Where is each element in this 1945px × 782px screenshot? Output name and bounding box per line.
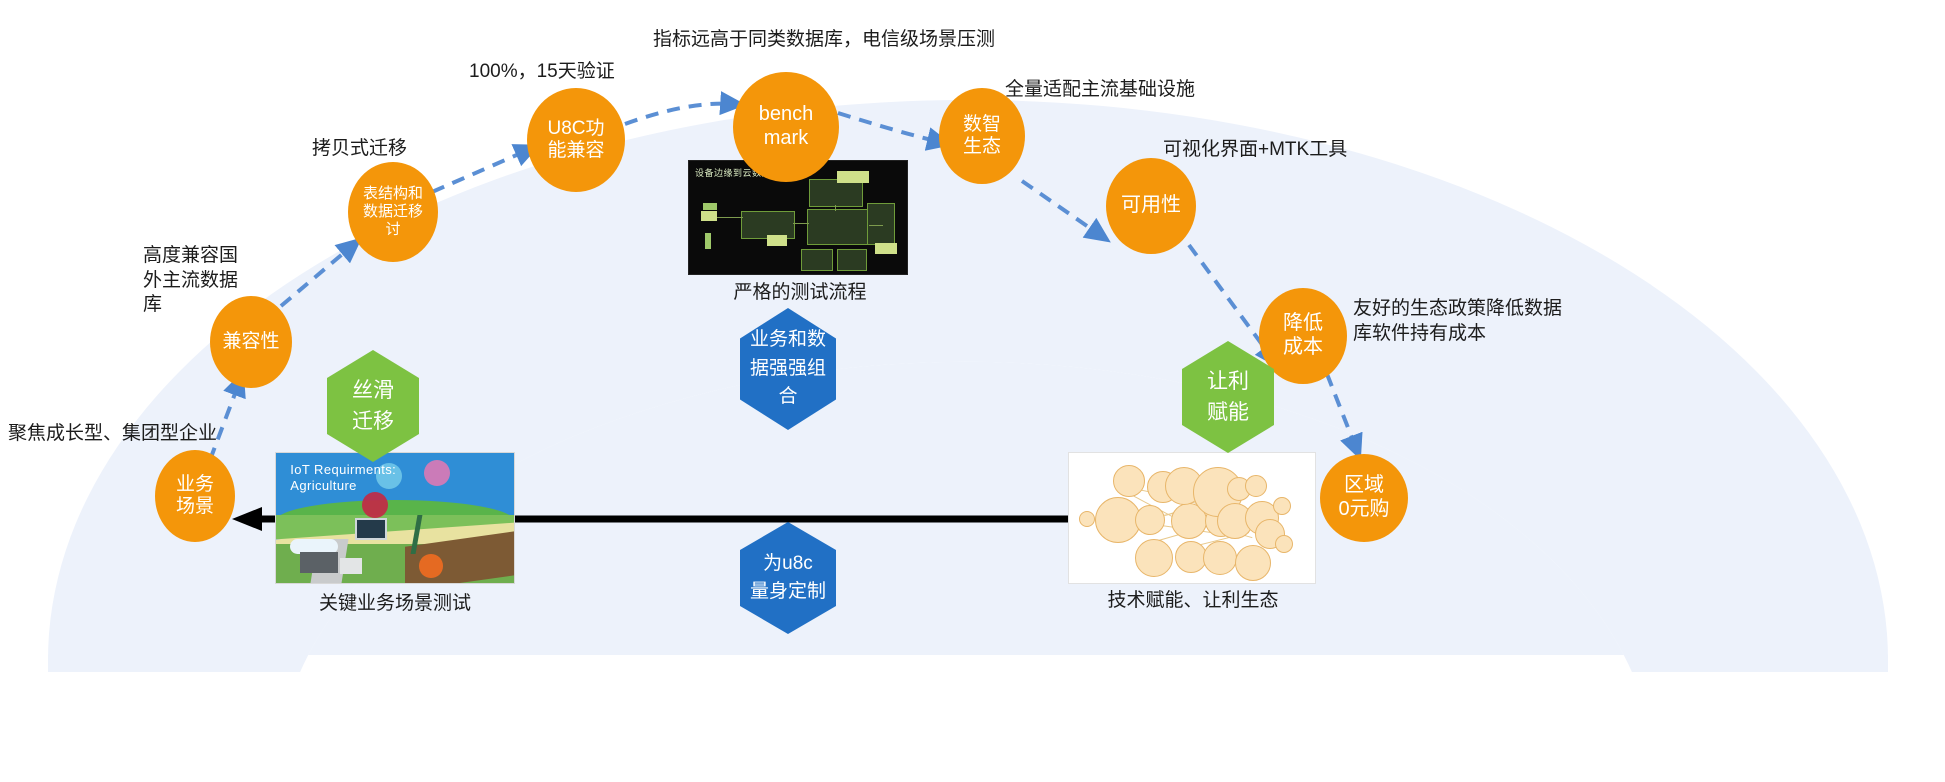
annotation-friendly-eco-policy: 友好的生态政策降低数据 库软件持有成本 <box>1353 297 1653 346</box>
caption-tech-empower-profit-eco: 技术赋能、让利生态 <box>1078 589 1308 614</box>
annotation-metrics-far-higher: 指标远高于同类数据库，电信级场景压测 <box>653 28 1073 53</box>
agriculture-title: IoT Requirments: Agriculture <box>290 462 396 495</box>
caption-strict-test-process: 严格的测试流程 <box>700 281 900 306</box>
bubble-red <box>362 492 388 518</box>
annotation-copy-migration: 拷贝式迁移 <box>312 137 482 162</box>
node-benchmark[interactable]: bench mark <box>733 72 839 182</box>
annotation-focus-enterprises: 聚焦成长型、集团型企业 <box>8 422 258 447</box>
annotation-visual-ui-mtk: 可视化界面+MTK工具 <box>1163 138 1423 163</box>
bubble-orange <box>419 554 443 577</box>
node-schema-data-migration[interactable]: 表结构和 数据迁移 讨 <box>348 162 438 262</box>
node-availability[interactable]: 可用性 <box>1106 158 1196 254</box>
node-business-scene[interactable]: 业务 场景 <box>155 450 235 542</box>
annotation-hundred-percent-15days: 100%，15天验证 <box>469 60 689 85</box>
diagram-canvas: 设备边缘到云数据之旅 IoT Requirments <box>0 0 1945 782</box>
annotation-full-adaptation-infra: 全量适配主流基础设施 <box>1005 78 1305 103</box>
caption-key-business-scene-test: 关键业务场景测试 <box>285 592 505 617</box>
annotation-high-compat-foreign-db: 高度兼容国 外主流数据 库 <box>143 244 303 318</box>
node-u8c-function-compat[interactable]: U8C功 能兼容 <box>527 88 625 192</box>
farmhouse <box>300 552 338 573</box>
monitor-icon <box>355 518 388 540</box>
network-bubble-thumbnail <box>1068 452 1316 584</box>
node-region-zero-purchase[interactable]: 区域 0元购 <box>1320 454 1408 542</box>
bubble-pink <box>424 460 450 486</box>
barn <box>340 558 361 574</box>
agriculture-illustration: IoT Requirments: Agriculture <box>275 452 515 584</box>
